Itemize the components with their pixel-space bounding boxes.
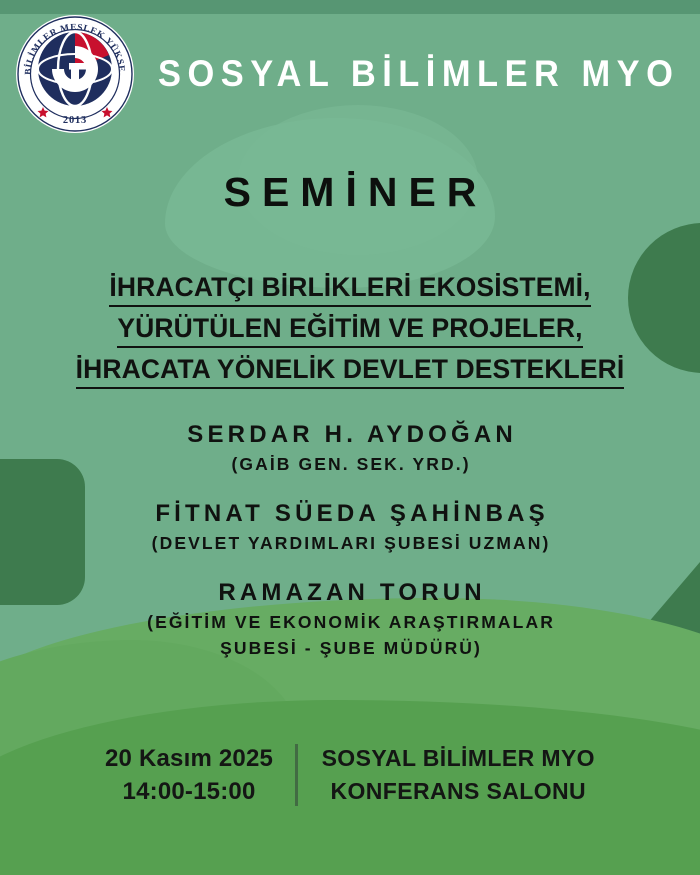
school-logo: SOSYAL BİLİMLER MESLEK YÜKSEKOKULU 2013 bbox=[14, 13, 136, 135]
speaker-item: FİTNAT SÜEDA ŞAHİNBAŞ (DEVLET YARDIMLARI… bbox=[0, 499, 700, 555]
speaker-item: SERDAR H. AYDOĞAN (GAİB GEN. SEK. YRD.) bbox=[0, 420, 700, 476]
speaker-role: (EĞİTİM VE EKONOMİK ARAŞTIRMALAR bbox=[0, 610, 700, 634]
event-title-line-2: YÜRÜTÜLEN EĞİTİM VE PROJELER, bbox=[117, 312, 582, 348]
event-title: İHRACATÇI BİRLİKLERİ EKOSİSTEMİ, YÜRÜTÜL… bbox=[0, 271, 700, 394]
speaker-list: SERDAR H. AYDOĞAN (GAİB GEN. SEK. YRD.) … bbox=[0, 420, 700, 660]
event-datetime: 20 Kasım 2025 14:00-15:00 bbox=[105, 742, 295, 808]
poster-content: SOSYAL BİLİMLER MESLEK YÜKSEKOKULU 2013 … bbox=[0, 0, 700, 875]
speaker-name: SERDAR H. AYDOĞAN bbox=[0, 420, 700, 450]
institution-title: SOSYAL BİLİMLER MYO bbox=[158, 53, 679, 95]
speaker-role: (GAİB GEN. SEK. YRD.) bbox=[0, 452, 700, 476]
speaker-name: RAMAZAN TORUN bbox=[0, 578, 700, 608]
poster-header: SOSYAL BİLİMLER MESLEK YÜKSEKOKULU 2013 … bbox=[0, 16, 700, 132]
event-time: 14:00-15:00 bbox=[105, 775, 273, 808]
event-date: 20 Kasım 2025 bbox=[105, 742, 273, 775]
event-venue-line-1: SOSYAL BİLİMLER MYO bbox=[322, 742, 595, 775]
seminar-poster: SOSYAL BİLİMLER MESLEK YÜKSEKOKULU 2013 … bbox=[0, 0, 700, 875]
event-venue: SOSYAL BİLİMLER MYO KONFERANS SALONU bbox=[298, 742, 595, 808]
event-kicker: SEMİNER bbox=[0, 169, 700, 216]
footer-divider bbox=[295, 744, 298, 806]
speaker-item: RAMAZAN TORUN (EĞİTİM VE EKONOMİK ARAŞTI… bbox=[0, 578, 700, 660]
speaker-role-continued: ŞUBESİ - ŞUBE MÜDÜRÜ) bbox=[0, 636, 700, 660]
event-title-line-3: İHRACATA YÖNELİK DEVLET DESTEKLERİ bbox=[76, 353, 625, 389]
event-venue-line-2: KONFERANS SALONU bbox=[322, 775, 595, 808]
svg-text:2013: 2013 bbox=[63, 115, 87, 126]
speaker-role: (DEVLET YARDIMLARI ŞUBESİ UZMAN) bbox=[0, 531, 700, 555]
event-title-line-1: İHRACATÇI BİRLİKLERİ EKOSİSTEMİ, bbox=[109, 271, 590, 307]
poster-footer: 20 Kasım 2025 14:00-15:00 SOSYAL BİLİMLE… bbox=[0, 742, 700, 808]
speaker-name: FİTNAT SÜEDA ŞAHİNBAŞ bbox=[0, 499, 700, 529]
